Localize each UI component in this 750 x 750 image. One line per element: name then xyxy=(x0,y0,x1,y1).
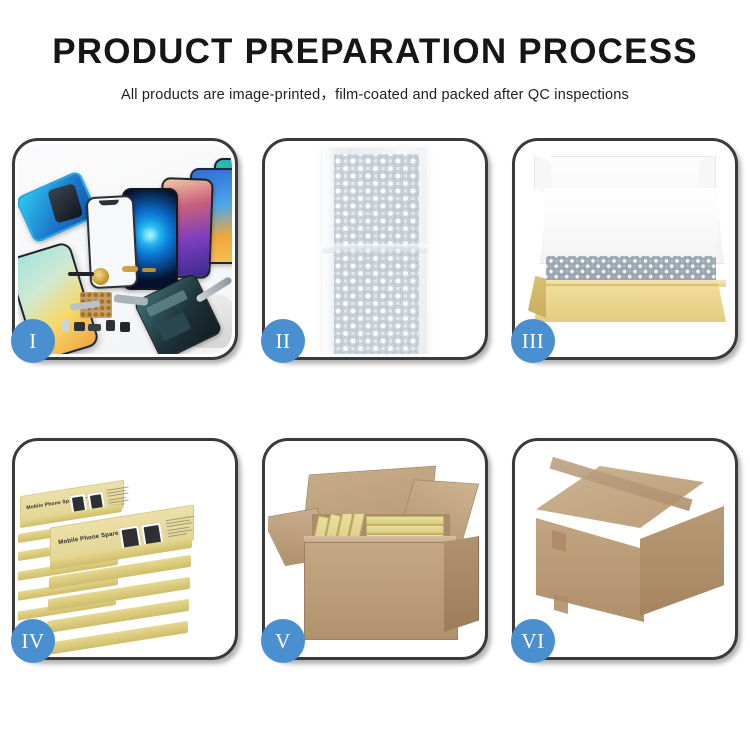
carton-seam-tab xyxy=(554,594,568,614)
component-icon xyxy=(68,272,94,276)
bubble-texture xyxy=(331,154,419,354)
packed-box xyxy=(366,525,444,534)
wrap-fold xyxy=(323,244,427,253)
step-badge-2: II xyxy=(261,319,305,363)
box-stack: Mobile Phone Spare Parts Mobile xyxy=(18,454,232,654)
component-icon xyxy=(74,322,85,331)
step-badge-1: I xyxy=(11,319,55,363)
component-icon xyxy=(120,322,130,332)
component-icon xyxy=(62,320,70,332)
phone-parts-illustration xyxy=(18,144,232,354)
sealed-carton-illustration xyxy=(518,444,732,654)
mailer-box-front xyxy=(534,284,726,322)
process-step-2: II xyxy=(262,138,488,360)
process-step-5: V xyxy=(262,438,488,660)
process-step-6: VI xyxy=(512,438,738,660)
foam-liner xyxy=(544,188,718,262)
page-subtitle: All products are image-printed，film-coat… xyxy=(0,83,750,104)
inner-box-illustration xyxy=(518,144,732,354)
carton-right-face xyxy=(640,506,724,616)
carton-seam-tab xyxy=(552,530,566,552)
step-badge-3: III xyxy=(511,319,555,363)
bubble-wrap-sheet xyxy=(323,148,427,354)
speaker-coil-icon xyxy=(92,268,109,285)
header: PRODUCT PREPARATION PROCESS All products… xyxy=(0,0,750,104)
open-carton-illustration xyxy=(268,444,482,654)
process-step-4: Mobile Phone Spare Parts Mobile xyxy=(12,438,238,660)
component-icon xyxy=(142,268,156,272)
process-step-3: III xyxy=(512,138,738,360)
process-step-1: I xyxy=(12,138,238,360)
step-badge-6: VI xyxy=(511,619,555,663)
carton-side xyxy=(444,536,479,632)
step-badge-5: V xyxy=(261,619,305,663)
packed-box xyxy=(366,516,444,525)
step-badge-4: IV xyxy=(11,619,55,663)
component-icon xyxy=(106,320,115,331)
component-icon xyxy=(122,266,138,272)
carton-front xyxy=(304,542,458,640)
process-grid: I II xyxy=(12,138,738,660)
mailer-box-side xyxy=(528,276,546,318)
bubble-wrap-illustration xyxy=(268,144,482,354)
infographic-page: PRODUCT PREPARATION PROCESS All products… xyxy=(0,0,750,750)
stacked-boxes-illustration: Mobile Phone Spare Parts Mobile xyxy=(18,444,232,654)
component-icon xyxy=(88,324,101,331)
page-title: PRODUCT PREPARATION PROCESS xyxy=(0,34,750,71)
